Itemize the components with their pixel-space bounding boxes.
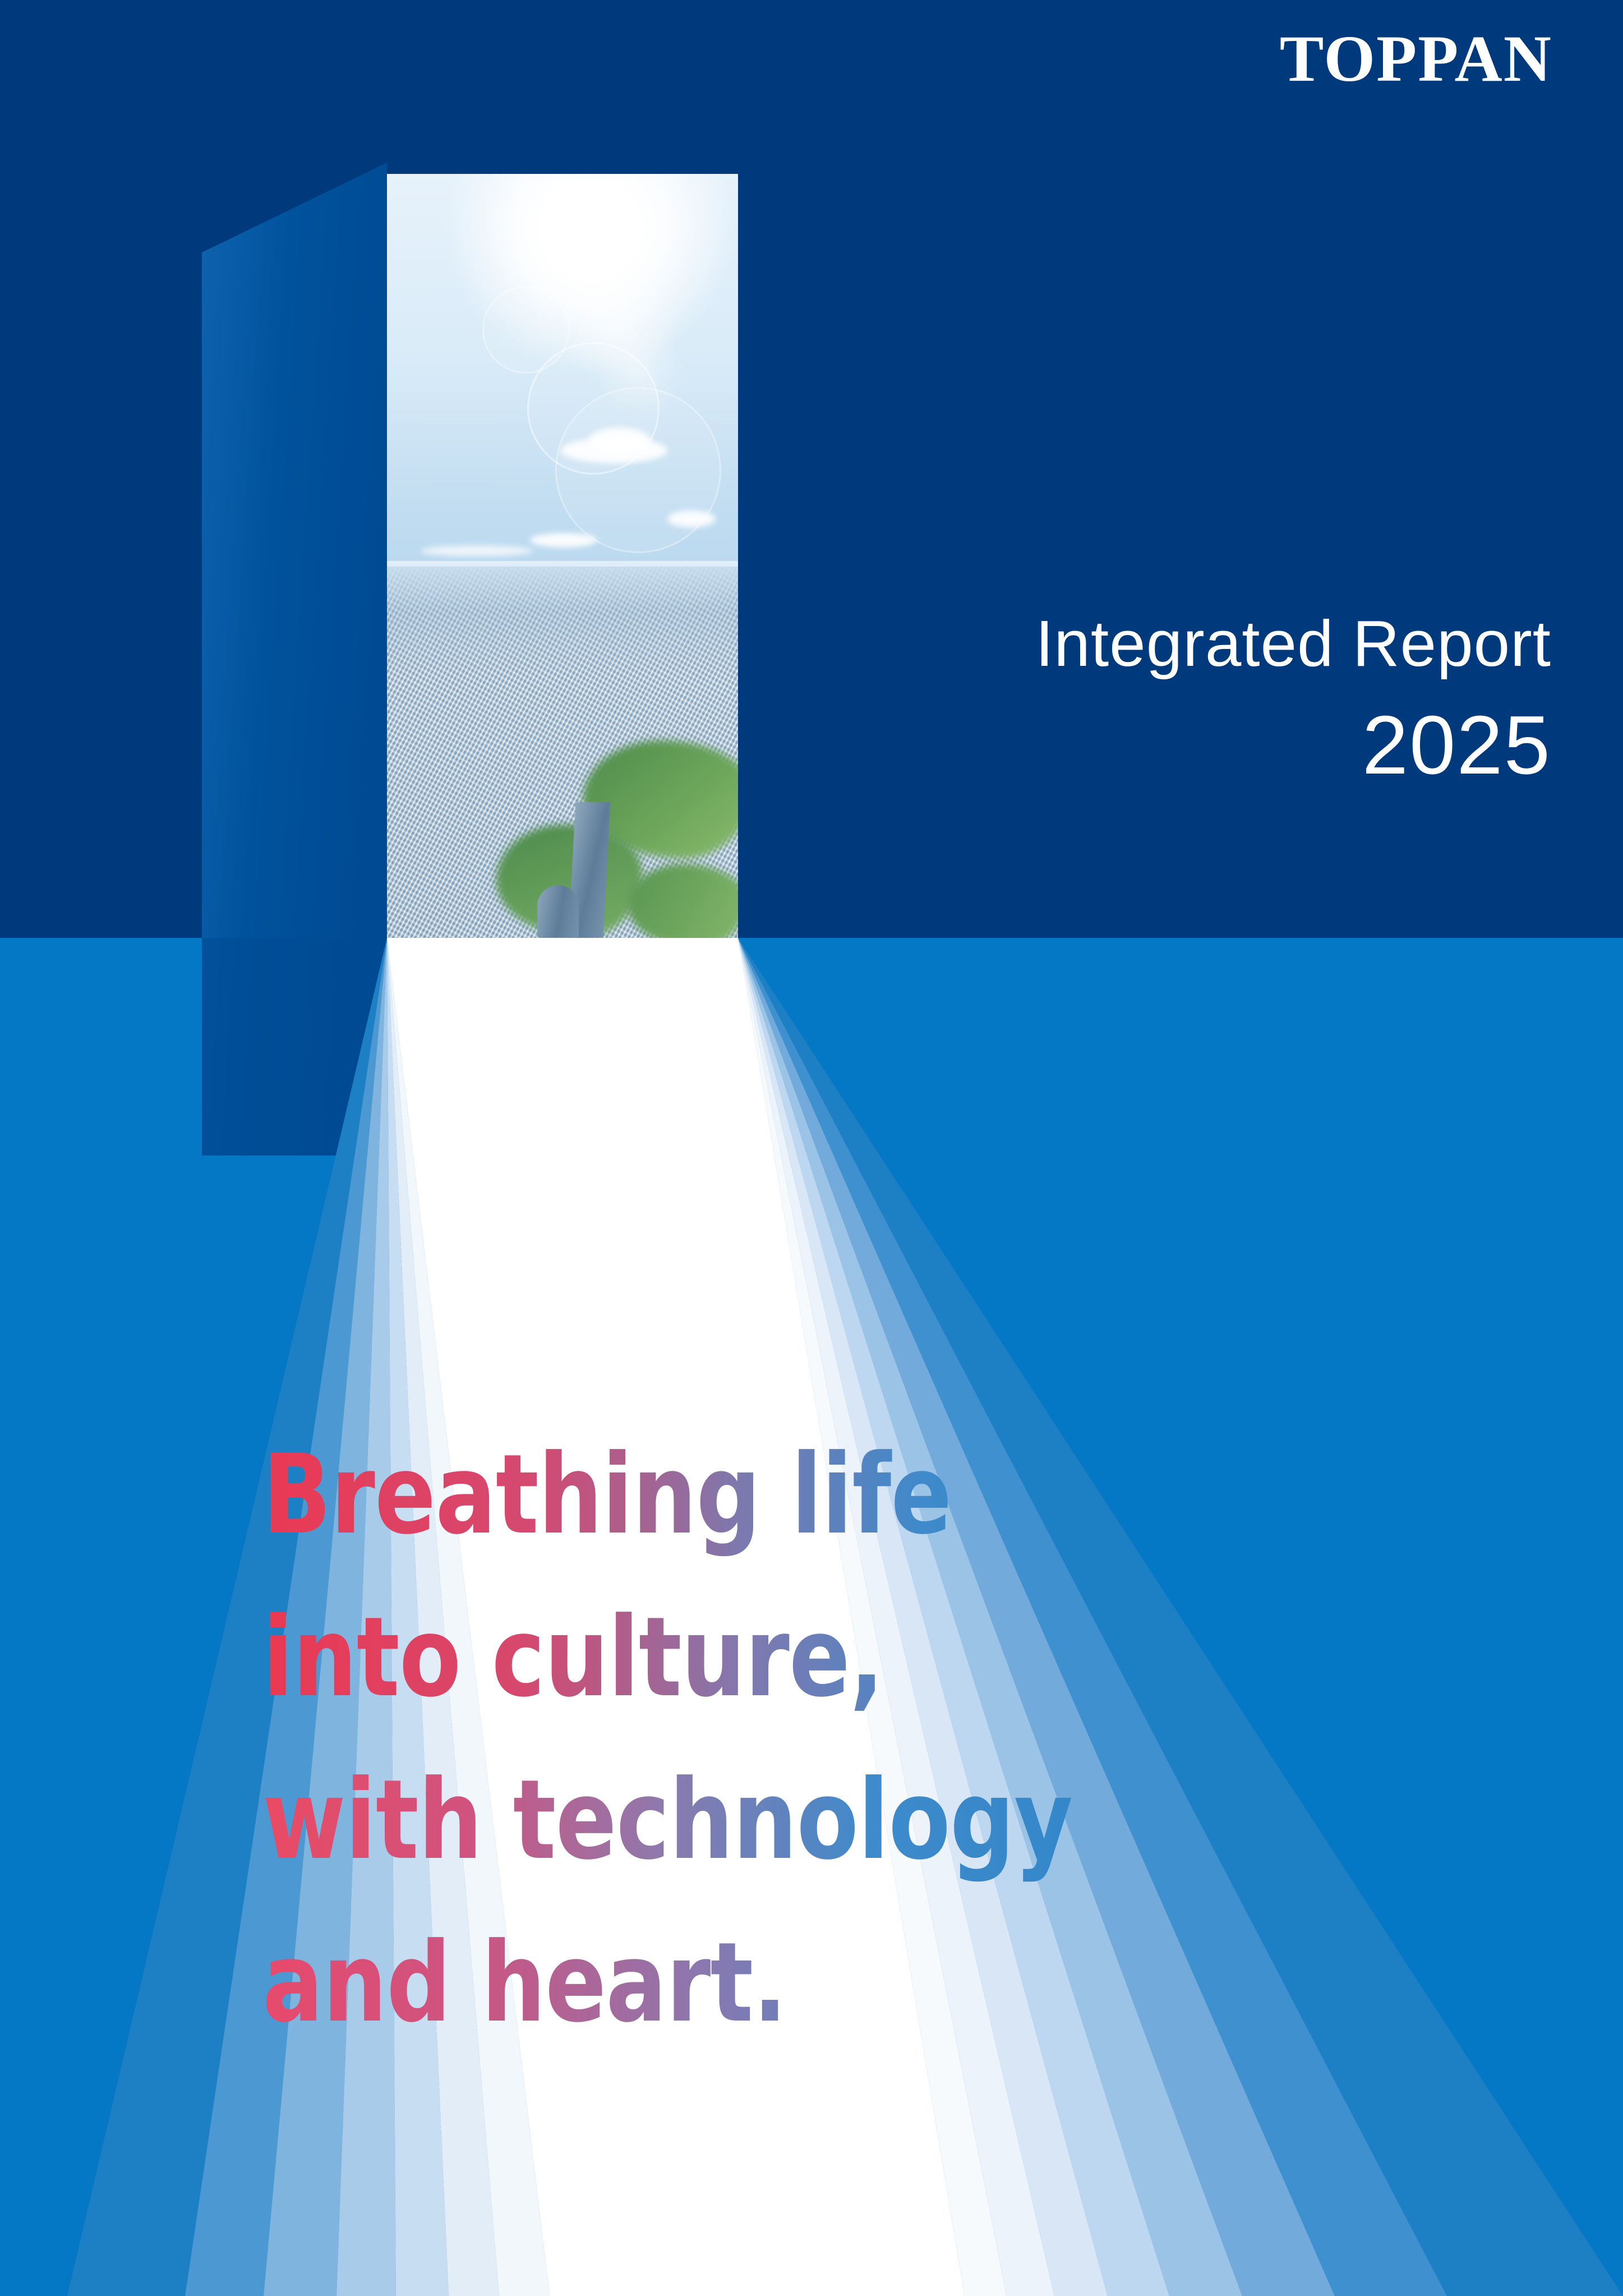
report-year: 2025: [1362, 700, 1551, 792]
report-cover: TOPPAN Integrated Report 2025 Breathing …: [0, 0, 1623, 2296]
headline-line-2: into culture,: [262, 1576, 1182, 1739]
door-panel-group: [202, 163, 387, 1156]
cloud-3: [667, 510, 716, 527]
headline-line-4: and heart.: [262, 1902, 1182, 2064]
photo-skyscraper-round: [537, 885, 579, 938]
toppan-logo-wordmark: TOPPAN: [1280, 26, 1552, 92]
report-title: Integrated Report: [1035, 608, 1551, 680]
cover-headline: Breathing life into culture, with techno…: [262, 1414, 1384, 2064]
cloud-4: [530, 533, 597, 547]
cloud-5: [421, 545, 533, 556]
cloud-2: [589, 427, 651, 453]
headline-line-3: with technology: [262, 1739, 1182, 1902]
city-skyline-photo: [387, 174, 738, 938]
lens-flare-ring-2: [555, 387, 721, 553]
headline-line-1: Breathing life: [262, 1414, 1182, 1576]
lens-flare-ring-3: [482, 286, 570, 374]
photo-park-green-3: [628, 864, 738, 938]
